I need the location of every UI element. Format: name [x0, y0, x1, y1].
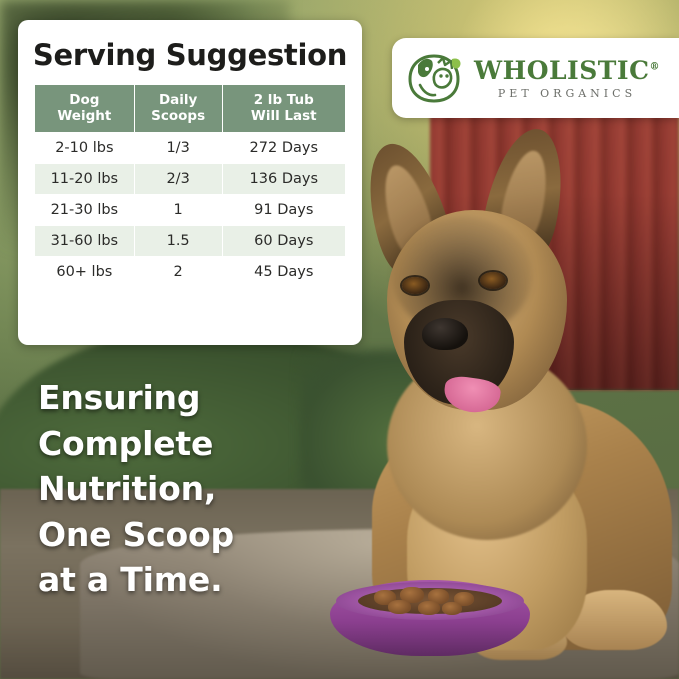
column-header-line-2: Will Last	[251, 108, 317, 124]
cell-dog-weight: 11-20 lbs	[35, 164, 135, 195]
cell-daily-scoops: 1.5	[134, 226, 222, 257]
cell-daily-scoops: 2/3	[134, 164, 222, 195]
table-header-row: Dog Weight Daily Scoops 2 lb Tub Will La…	[35, 85, 346, 133]
tagline-line-1: Ensuring	[38, 375, 338, 421]
brand-logo-badge: WHOLISTIC® PET ORGANICS	[392, 38, 679, 118]
cell-tub-duration: 45 Days	[222, 257, 345, 288]
column-header-dog-weight: Dog Weight	[35, 85, 135, 133]
kibble-piece	[442, 602, 462, 615]
cell-tub-duration: 60 Days	[222, 226, 345, 257]
cell-dog-weight: 60+ lbs	[35, 257, 135, 288]
kibble-piece	[418, 601, 440, 615]
dog-eye-left	[402, 277, 428, 294]
column-header-line-1: 2 lb Tub	[254, 92, 314, 108]
cell-dog-weight: 21-30 lbs	[35, 195, 135, 226]
kibble-piece	[388, 600, 411, 614]
brand-wordmark: WHOLISTIC® PET ORGANICS	[474, 58, 660, 99]
registered-trademark-icon: ®	[650, 61, 661, 72]
brand-name: WHOLISTIC®	[474, 58, 660, 83]
serving-suggestion-table: Dog Weight Daily Scoops 2 lb Tub Will La…	[34, 84, 346, 288]
purple-food-bowl	[330, 580, 530, 656]
column-header-line-2: Weight	[57, 108, 111, 124]
dog-eye-right	[480, 272, 506, 289]
dog-and-cat-with-leaf-icon	[404, 49, 466, 107]
column-header-line-1: Daily	[159, 92, 197, 108]
brand-name-text: WHOLISTIC	[474, 56, 650, 85]
table-row: 60+ lbs 2 45 Days	[35, 257, 346, 288]
table-row: 2-10 lbs 1/3 272 Days	[35, 133, 346, 164]
tagline-line-5: at a Time.	[38, 557, 338, 603]
cell-daily-scoops: 1/3	[134, 133, 222, 164]
table-row: 21-30 lbs 1 91 Days	[35, 195, 346, 226]
serving-suggestion-card: Serving Suggestion Dog Weight Daily Scoo…	[18, 20, 362, 345]
cell-dog-weight: 2-10 lbs	[35, 133, 135, 164]
cell-tub-duration: 136 Days	[222, 164, 345, 195]
table-row: 11-20 lbs 2/3 136 Days	[35, 164, 346, 195]
column-header-tub-duration: 2 lb Tub Will Last	[222, 85, 345, 133]
column-header-daily-scoops: Daily Scoops	[134, 85, 222, 133]
column-header-line-1: Dog	[69, 92, 99, 108]
tagline-line-4: One Scoop	[38, 512, 338, 558]
cell-tub-duration: 272 Days	[222, 133, 345, 164]
product-lifestyle-image: Serving Suggestion Dog Weight Daily Scoo…	[0, 0, 679, 679]
brand-tagline: PET ORGANICS	[474, 88, 660, 99]
cell-daily-scoops: 1	[134, 195, 222, 226]
tagline-line-3: Nutrition,	[38, 466, 338, 512]
cell-daily-scoops: 2	[134, 257, 222, 288]
table-row: 31-60 lbs 1.5 60 Days	[35, 226, 346, 257]
cell-tub-duration: 91 Days	[222, 195, 345, 226]
dog-nose	[422, 318, 468, 350]
serving-suggestion-title: Serving Suggestion	[18, 20, 362, 84]
german-shepherd-dog	[352, 150, 679, 650]
marketing-tagline: Ensuring Complete Nutrition, One Scoop a…	[38, 375, 338, 603]
column-header-line-2: Scoops	[151, 108, 205, 124]
tagline-line-2: Complete	[38, 421, 338, 467]
cell-dog-weight: 31-60 lbs	[35, 226, 135, 257]
